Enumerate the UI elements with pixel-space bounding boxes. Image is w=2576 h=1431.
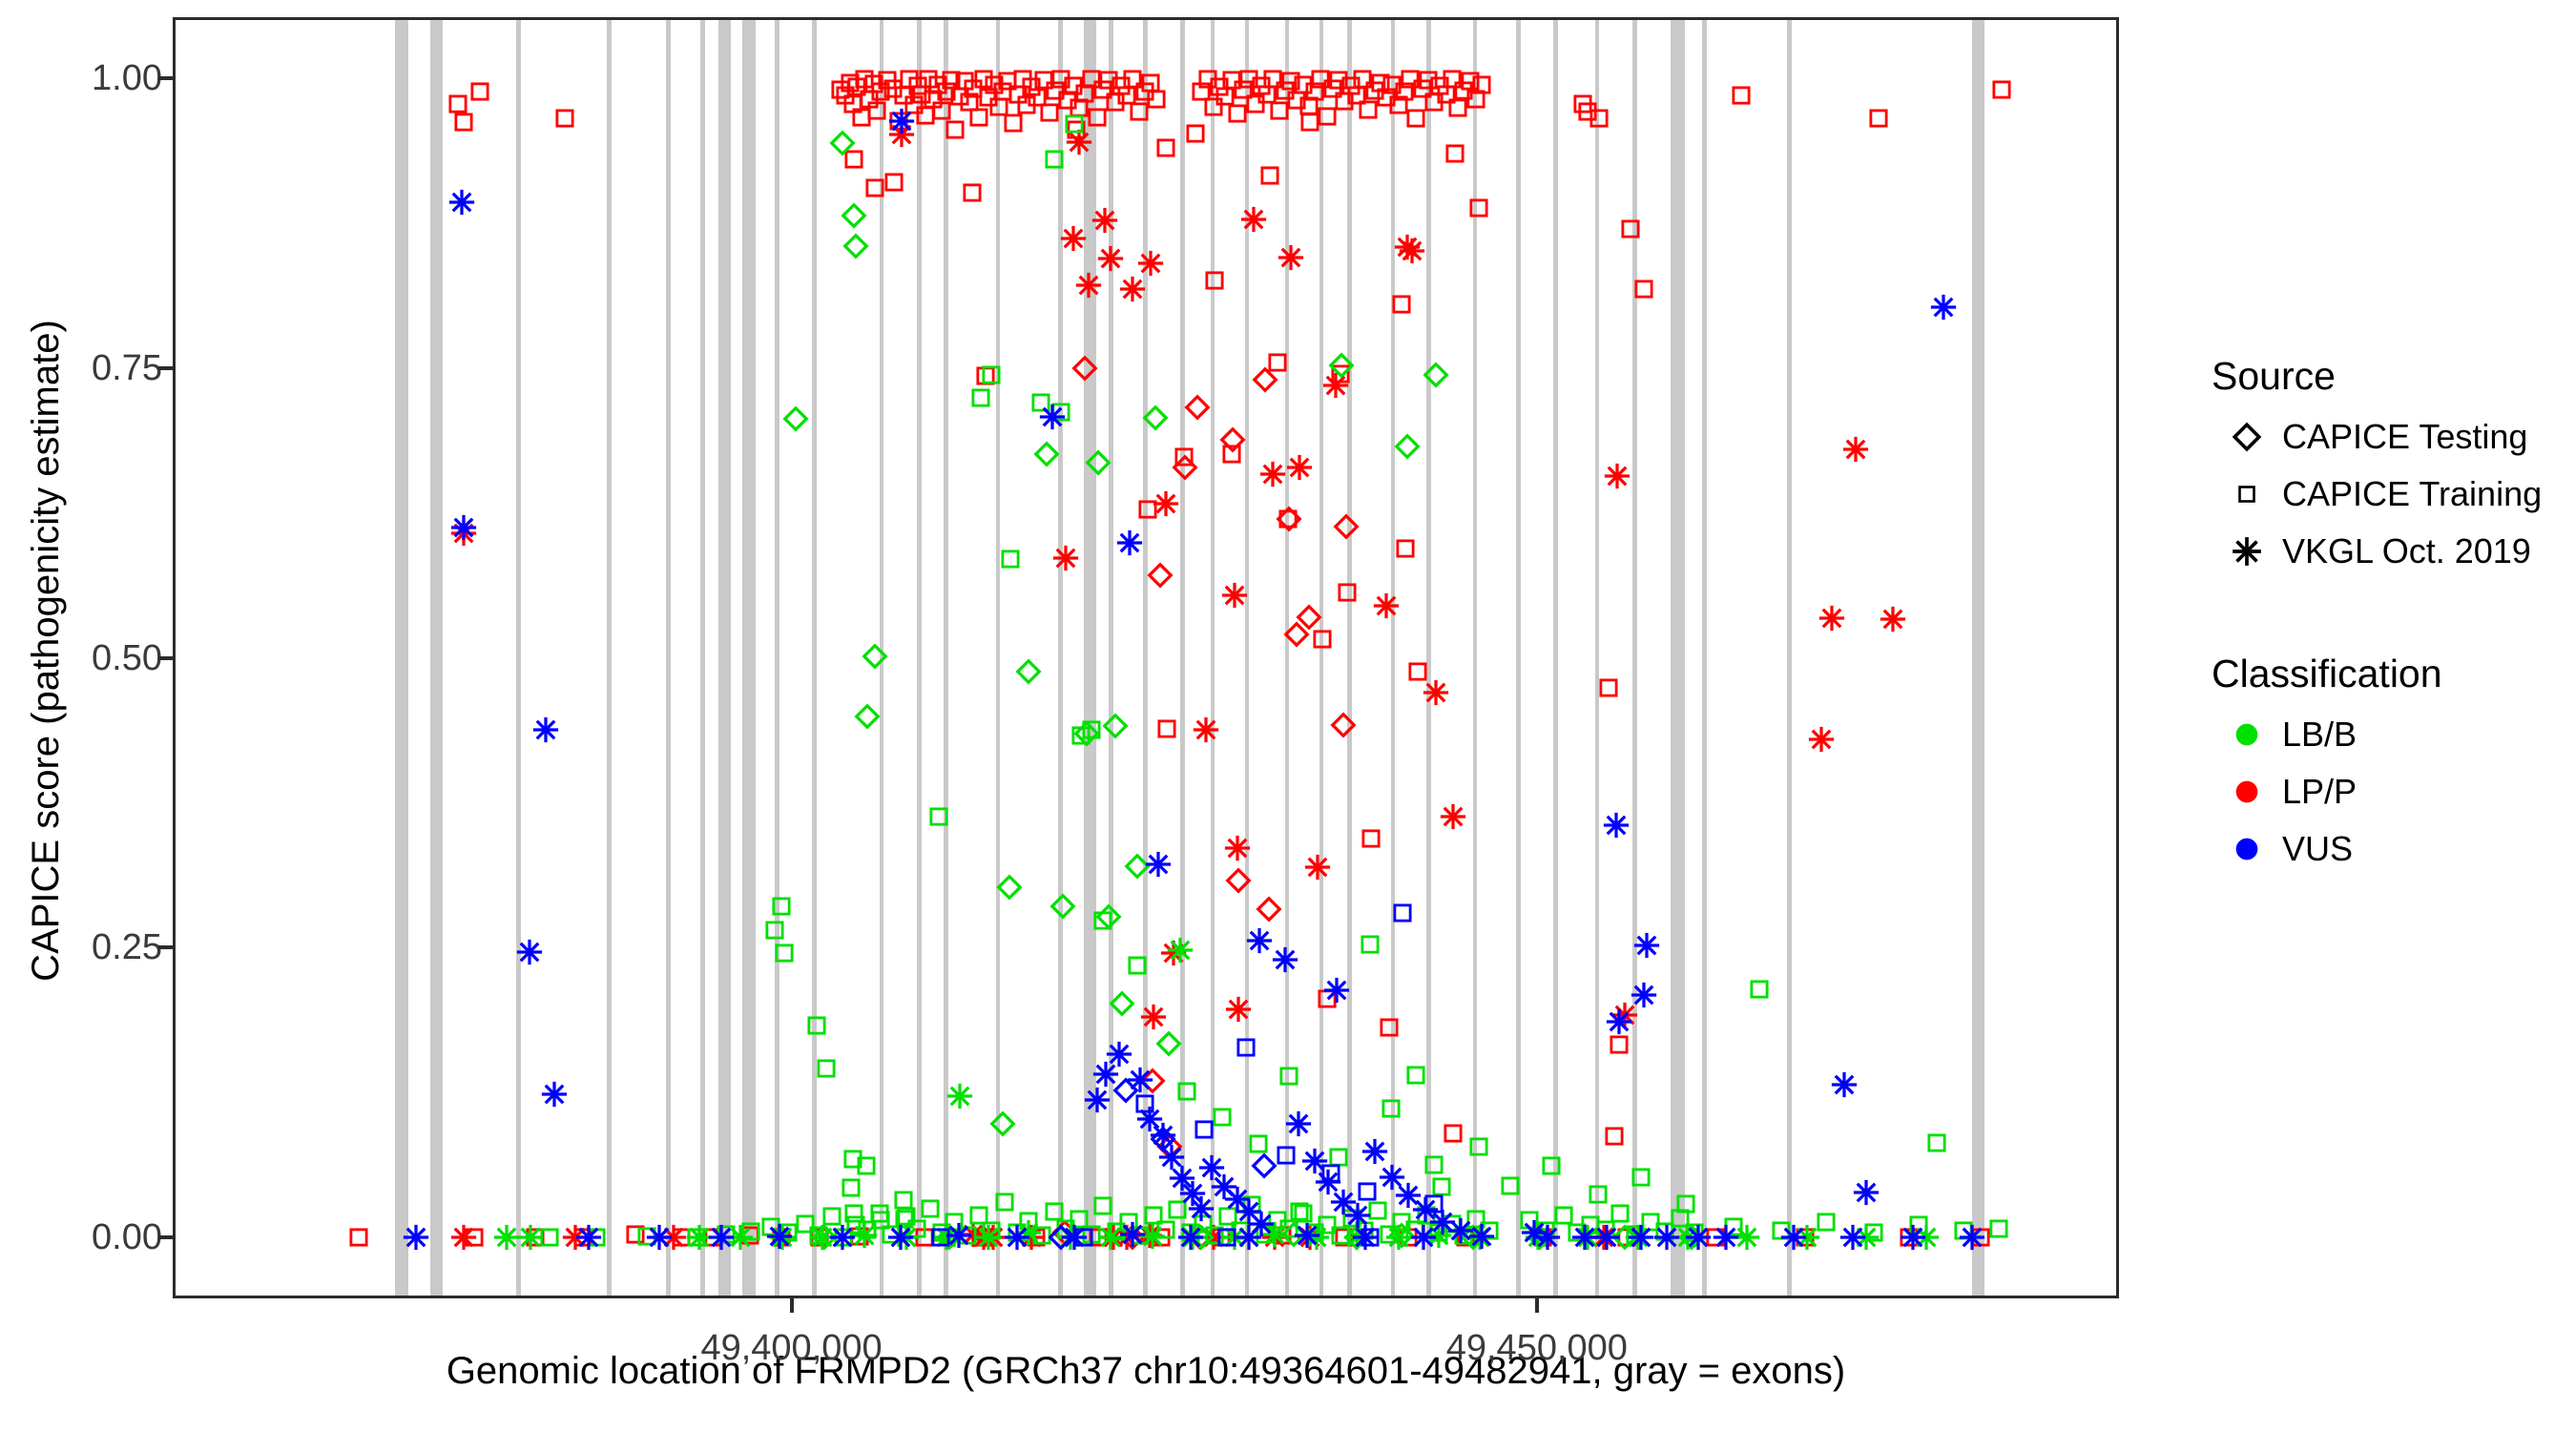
data-point-square — [891, 1188, 916, 1213]
data-point-square — [1277, 1064, 1301, 1089]
exon-marker-line — [996, 20, 1001, 1296]
legend-item[interactable]: VUS — [2212, 820, 2555, 878]
data-point-diamond — [1183, 393, 1212, 422]
exon-marker-line — [1632, 20, 1637, 1296]
data-point-square — [841, 1147, 865, 1172]
legend-title: Classification — [2212, 649, 2555, 698]
data-point-asterisk — [1152, 489, 1180, 518]
data-point-square — [1466, 196, 1491, 220]
data-point-square — [1814, 1210, 1839, 1234]
data-point-square — [1116, 1210, 1141, 1234]
data-point-asterisk — [1818, 604, 1846, 633]
exon-marker-line — [880, 20, 884, 1296]
data-point-asterisk — [1589, 1223, 1618, 1252]
data-point-asterisk — [765, 1222, 794, 1251]
data-point-square — [1320, 76, 1345, 101]
data-point-asterisk — [1428, 1208, 1457, 1236]
data-point-square — [891, 83, 916, 108]
data-point-asterisk — [1409, 1223, 1438, 1252]
data-point-square — [1104, 1219, 1129, 1244]
data-point-diamond — [988, 1110, 1017, 1138]
data-point-asterisk — [1014, 1218, 1043, 1247]
data-point-asterisk — [1852, 1178, 1880, 1207]
data-point-square — [982, 73, 1007, 97]
data-point-square — [1358, 1225, 1382, 1250]
data-point-square — [1277, 1216, 1301, 1241]
exon-marker-line — [1671, 20, 1684, 1296]
data-point-square — [1906, 1213, 1931, 1237]
data-point-asterisk — [1627, 1223, 1655, 1252]
data-point-square — [1477, 1218, 1502, 1243]
exon-marker-line — [1058, 20, 1063, 1296]
data-point-square — [1315, 986, 1340, 1011]
exon-marker-line — [1426, 20, 1431, 1296]
data-point-square — [1010, 67, 1035, 92]
data-point-asterisk — [1793, 1223, 1821, 1252]
data-point-asterisk — [1841, 435, 1870, 464]
data-point-square — [1721, 1214, 1746, 1239]
data-point-asterisk — [1303, 853, 1332, 881]
data-point-square — [1165, 1197, 1190, 1222]
data-point-asterisk — [1422, 678, 1450, 707]
data-point-square — [1350, 67, 1375, 92]
data-point-asterisk — [1384, 1223, 1413, 1252]
data-point-square — [1429, 1174, 1454, 1199]
asterisk-marker — [2212, 535, 2282, 568]
data-point-square — [854, 1153, 879, 1178]
data-point-asterisk — [1879, 605, 1907, 633]
data-point-square — [1219, 68, 1244, 93]
data-point-square — [820, 1204, 844, 1229]
data-point-asterisk — [685, 1223, 714, 1252]
data-point-diamond — [1329, 711, 1358, 739]
exon-marker-line — [944, 20, 948, 1296]
data-point-asterisk — [1285, 453, 1314, 482]
data-point-square — [1019, 74, 1044, 99]
data-point-asterisk — [1321, 371, 1350, 400]
data-point-square — [1005, 1220, 1029, 1245]
data-point-square — [1362, 78, 1387, 103]
data-point-square — [1195, 67, 1220, 92]
data-point-diamond — [1275, 505, 1303, 533]
data-point-square — [1144, 87, 1169, 112]
data-point-square — [849, 105, 874, 130]
data-point-asterisk — [1017, 1223, 1046, 1252]
data-point-square — [1422, 1152, 1446, 1177]
legend-title: Source — [2212, 351, 2555, 401]
data-point-square — [1440, 67, 1465, 92]
data-point-square — [1246, 1131, 1271, 1156]
data-point-square — [1392, 79, 1417, 104]
exon-marker-line — [700, 20, 705, 1296]
data-point-asterisk — [1051, 544, 1080, 572]
data-point-square — [909, 82, 934, 107]
data-point-square — [1253, 1222, 1278, 1247]
exon-marker-line — [607, 20, 612, 1296]
data-point-asterisk — [886, 1223, 915, 1252]
exon-marker-line — [1391, 20, 1396, 1296]
data-point-asterisk — [1839, 1223, 1867, 1252]
circle-marker — [2212, 833, 2282, 865]
data-point-asterisk — [1603, 462, 1631, 490]
data-point-square — [966, 1203, 991, 1228]
data-point-asterisk — [1361, 1137, 1389, 1166]
exon-marker-line — [1109, 20, 1113, 1296]
data-point-asterisk — [1446, 1216, 1475, 1245]
exon-marker-line — [516, 20, 521, 1296]
data-point-diamond — [841, 232, 870, 260]
data-point-asterisk — [1277, 243, 1305, 272]
exon-marker-line — [1143, 20, 1148, 1296]
data-point-asterisk — [449, 1223, 478, 1252]
data-point-square — [1215, 1225, 1239, 1250]
data-point-square — [1587, 106, 1611, 131]
data-point-asterisk — [1852, 1223, 1880, 1252]
data-point-diamond — [828, 129, 857, 157]
data-point-square — [1255, 82, 1279, 107]
data-point-diamond — [1032, 440, 1061, 468]
data-point-square — [1001, 111, 1026, 135]
data-point-square — [623, 1222, 648, 1247]
data-point-square — [1747, 977, 1772, 1002]
data-point-asterisk — [449, 513, 478, 542]
data-point-square — [537, 1225, 562, 1250]
exon-marker-line — [430, 20, 443, 1296]
data-point-asterisk — [1247, 1210, 1276, 1238]
data-point-square — [1445, 95, 1470, 120]
data-point-asterisk — [768, 1223, 797, 1252]
legend-item[interactable]: LP/P — [2212, 763, 2555, 820]
data-point-square — [841, 1201, 866, 1226]
data-point-square — [1866, 106, 1891, 131]
data-point-square — [552, 106, 577, 131]
legend-spacer — [2212, 580, 2555, 649]
data-point-square — [523, 1225, 548, 1250]
data-point-square — [973, 363, 998, 388]
data-point-square — [1024, 1225, 1049, 1250]
data-point-asterisk — [1293, 1221, 1321, 1250]
data-point-square — [929, 1220, 954, 1245]
data-point-square — [1153, 135, 1178, 160]
data-point-diamond — [1138, 1067, 1167, 1095]
legend-item-label: LB/B — [2282, 715, 2357, 755]
data-point-square — [1213, 84, 1237, 109]
exon-marker-line — [1245, 20, 1250, 1296]
data-point-square — [961, 76, 986, 101]
data-point-asterisk — [828, 1223, 857, 1252]
data-point-square — [1365, 1198, 1390, 1223]
legend-item[interactable]: CAPICE Training — [2212, 466, 2555, 523]
data-point-square — [1332, 1225, 1357, 1250]
diamond-marker — [2212, 421, 2282, 453]
data-point-square — [1607, 1032, 1631, 1057]
data-point-square — [1135, 497, 1160, 522]
exon-marker-line — [666, 20, 671, 1296]
data-point-square — [1332, 89, 1357, 114]
exon-marker-line — [1180, 20, 1185, 1296]
data-point-asterisk — [1342, 1223, 1371, 1252]
data-point-square — [921, 87, 945, 112]
legend-item-label: LP/P — [2282, 772, 2357, 812]
data-point-diamond — [1250, 1151, 1278, 1180]
data-point-square — [1434, 82, 1459, 107]
data-point-square — [1061, 73, 1086, 98]
data-point-square — [1729, 83, 1754, 108]
data-point-asterisk — [1300, 1147, 1329, 1175]
data-point-square — [584, 1225, 609, 1250]
data-point-asterisk — [1411, 1195, 1440, 1224]
data-point-diamond — [853, 702, 882, 731]
data-point-square — [776, 1220, 800, 1245]
data-point-square — [1403, 106, 1428, 131]
data-point-square — [634, 1224, 659, 1249]
data-point-asterisk — [1712, 1223, 1740, 1252]
data-point-square — [881, 76, 905, 101]
data-point-square — [847, 1224, 872, 1249]
data-point-asterisk — [945, 1221, 973, 1250]
data-point-square — [1153, 1217, 1178, 1242]
data-point-asterisk — [1138, 1222, 1167, 1251]
x-axis-title: Genomic location of FRMPD2 (GRCh37 chr10… — [173, 1347, 2119, 1395]
data-point-square — [990, 79, 1015, 104]
data-point-asterisk — [1126, 1066, 1154, 1094]
legend-item[interactable]: CAPICE Testing — [2212, 408, 2555, 466]
data-point-square — [1043, 78, 1068, 103]
data-point-asterisk — [945, 1082, 974, 1110]
data-point-square — [838, 71, 862, 95]
y-tick-label: 1.00 — [0, 60, 162, 96]
data-point-square — [1440, 1212, 1465, 1236]
data-point-square — [1986, 1216, 2011, 1241]
data-point-square — [1340, 1206, 1364, 1231]
data-point-diamond — [1393, 432, 1422, 461]
data-point-asterisk — [1302, 1223, 1331, 1252]
data-point-square — [882, 170, 906, 195]
data-point-square — [1377, 1015, 1402, 1040]
data-point-asterisk — [1351, 1223, 1380, 1252]
data-point-asterisk — [1830, 1070, 1859, 1099]
data-point-square — [968, 385, 993, 410]
data-point-square — [970, 1225, 995, 1250]
data-point-diamond — [1422, 361, 1450, 389]
data-point-square — [886, 109, 911, 134]
data-point-asterisk — [1314, 1168, 1342, 1196]
data-point-square — [1539, 1153, 1564, 1178]
x-tick-label: 49,400,000 — [649, 1328, 935, 1369]
data-point-asterisk — [1684, 1223, 1713, 1252]
data-point-square — [806, 1223, 831, 1248]
data-point-asterisk — [1912, 1223, 1941, 1252]
data-point-square — [1398, 67, 1423, 92]
data-point-square — [1466, 1134, 1491, 1159]
data-point-square — [841, 92, 865, 116]
data-point-asterisk — [1394, 1181, 1423, 1210]
data-point-square — [1257, 163, 1282, 188]
data-point-diamond — [781, 404, 810, 433]
data-point-asterisk — [1144, 850, 1173, 879]
data-point-square — [1287, 1199, 1312, 1224]
data-point-square — [892, 1207, 917, 1232]
legend-item-label: VUS — [2282, 829, 2353, 869]
data-point-square — [1025, 85, 1049, 110]
data-point-square — [1355, 1179, 1380, 1204]
data-point-square — [939, 68, 964, 93]
data-point-square — [1897, 1225, 1922, 1250]
data-point-diamond — [1146, 561, 1174, 590]
data-point-diamond — [1218, 425, 1247, 454]
data-point-asterisk — [979, 1223, 1008, 1252]
exon-marker-line — [1553, 20, 1558, 1296]
data-point-square — [1386, 93, 1411, 117]
exon-marker-line — [812, 20, 817, 1296]
exon-marker-line — [1319, 20, 1324, 1296]
data-point-diamond — [840, 201, 868, 230]
y-tick-mark — [158, 1235, 173, 1239]
exon-marker-line — [1285, 20, 1290, 1296]
data-point-asterisk — [1398, 237, 1426, 265]
data-point-asterisk — [1605, 1007, 1633, 1036]
exon-marker-line — [395, 20, 408, 1296]
data-point-square — [857, 87, 882, 112]
data-point-square — [929, 98, 954, 123]
data-point-square — [1236, 67, 1261, 92]
data-point-square — [1422, 1192, 1446, 1216]
data-point-square — [1393, 536, 1418, 561]
legend-item[interactable]: VKGL Oct. 2019 — [2212, 523, 2555, 580]
data-point-square — [467, 79, 492, 104]
data-point-square — [843, 1213, 868, 1237]
data-point-diamond — [1049, 892, 1077, 921]
data-point-asterisk — [659, 1223, 688, 1252]
data-point-asterisk — [1602, 811, 1631, 840]
data-point-square — [841, 147, 866, 172]
data-point-square — [928, 1225, 953, 1250]
data-point-asterisk — [1624, 1223, 1652, 1252]
data-point-square — [1570, 92, 1595, 116]
data-point-diamond — [1332, 512, 1361, 541]
data-point-square — [955, 1223, 980, 1248]
data-point-square — [1202, 1223, 1227, 1248]
data-point-square — [1149, 1225, 1174, 1250]
data-point-diamond — [1342, 1223, 1371, 1252]
data-point-diamond — [1154, 1029, 1183, 1058]
data-point-asterisk — [1192, 715, 1220, 744]
data-point-square — [1291, 1201, 1316, 1226]
data-point-asterisk — [574, 1223, 603, 1252]
data-point-asterisk — [1899, 1223, 1927, 1252]
data-point-asterisk — [1439, 802, 1467, 831]
data-point-asterisk — [887, 107, 916, 135]
x-tick-label: 49,450,000 — [1394, 1328, 1680, 1369]
data-point-diamond — [1050, 1218, 1079, 1247]
y-tick-label: 0.75 — [0, 350, 162, 386]
data-point-square — [1031, 68, 1056, 93]
data-point-square — [1202, 268, 1227, 293]
data-point-asterisk — [1929, 293, 1958, 321]
data-point-square — [814, 1056, 839, 1081]
exon-marker-line — [742, 20, 756, 1296]
data-point-square — [1352, 1218, 1377, 1243]
data-point-square — [1016, 1209, 1041, 1234]
data-point-asterisk — [1135, 1221, 1164, 1250]
data-point-square — [1703, 1225, 1728, 1250]
data-point-asterisk — [850, 1221, 879, 1250]
data-point-square — [451, 110, 476, 135]
data-point-diamond — [1251, 365, 1279, 394]
data-point-square — [1861, 1220, 1886, 1245]
data-point-square — [1103, 90, 1128, 114]
data-point-asterisk — [1235, 1223, 1263, 1252]
data-point-diamond — [1149, 1125, 1177, 1153]
data-point-square — [947, 84, 972, 109]
data-point-square — [1396, 1225, 1421, 1250]
data-point-square — [1215, 1204, 1240, 1229]
data-point-square — [1128, 1223, 1153, 1248]
data-point-diamond — [1255, 895, 1283, 923]
data-point-square — [1260, 67, 1285, 92]
data-point-asterisk — [1520, 1218, 1548, 1247]
data-point-square — [1458, 69, 1483, 93]
plot-area — [176, 20, 2116, 1296]
data-point-diamond — [1171, 453, 1199, 482]
data-point-asterisk — [1112, 1223, 1141, 1252]
data-point-square — [998, 547, 1023, 571]
data-point-square — [1315, 104, 1340, 129]
data-point-square — [833, 83, 858, 108]
data-point-square — [1315, 1213, 1340, 1237]
data-point-square — [1120, 67, 1145, 92]
data-point-square — [971, 67, 996, 92]
data-point-asterisk — [1807, 725, 1836, 754]
data-point-square — [1368, 71, 1393, 95]
data-point-asterisk — [1136, 249, 1165, 278]
data-point-square — [1924, 1130, 1949, 1155]
data-point-asterisk — [1779, 1223, 1808, 1252]
exon-marker-line — [917, 20, 922, 1296]
data-point-square — [346, 1225, 371, 1250]
y-tick-mark — [158, 656, 173, 660]
y-tick-label: 0.50 — [0, 640, 162, 676]
data-point-asterisk — [1003, 1223, 1031, 1252]
exon-marker-line — [1084, 20, 1096, 1296]
data-point-square — [839, 1175, 863, 1200]
data-point-asterisk — [969, 1223, 998, 1252]
data-point-asterisk — [1465, 1223, 1494, 1252]
data-point-square — [1377, 1222, 1402, 1247]
data-point-square — [831, 1225, 856, 1250]
data-point-diamond — [1111, 1076, 1140, 1105]
data-point-square — [1249, 73, 1274, 98]
legend-container: SourceCAPICE TestingCAPICE TrainingVKGL … — [2212, 351, 2555, 878]
data-point-square — [875, 68, 900, 93]
data-point-asterisk — [1632, 931, 1661, 960]
y-tick-mark — [158, 76, 173, 80]
data-point-asterisk — [1135, 1105, 1164, 1133]
data-point-asterisk — [1099, 1223, 1128, 1252]
legend-item-label: CAPICE Training — [2282, 474, 2542, 514]
data-point-asterisk — [561, 1223, 590, 1252]
data-point-square — [1618, 217, 1643, 241]
y-tick-label: 0.25 — [0, 929, 162, 965]
data-point-square — [1270, 1223, 1295, 1248]
data-point-asterisk — [1235, 1197, 1263, 1226]
square-marker — [2212, 483, 2282, 506]
data-point-square — [1231, 77, 1256, 102]
data-point-asterisk — [447, 188, 476, 217]
legend-item[interactable]: LB/B — [2212, 706, 2555, 763]
data-point-asterisk — [1245, 926, 1274, 955]
data-point-asterisk — [1733, 1223, 1761, 1252]
